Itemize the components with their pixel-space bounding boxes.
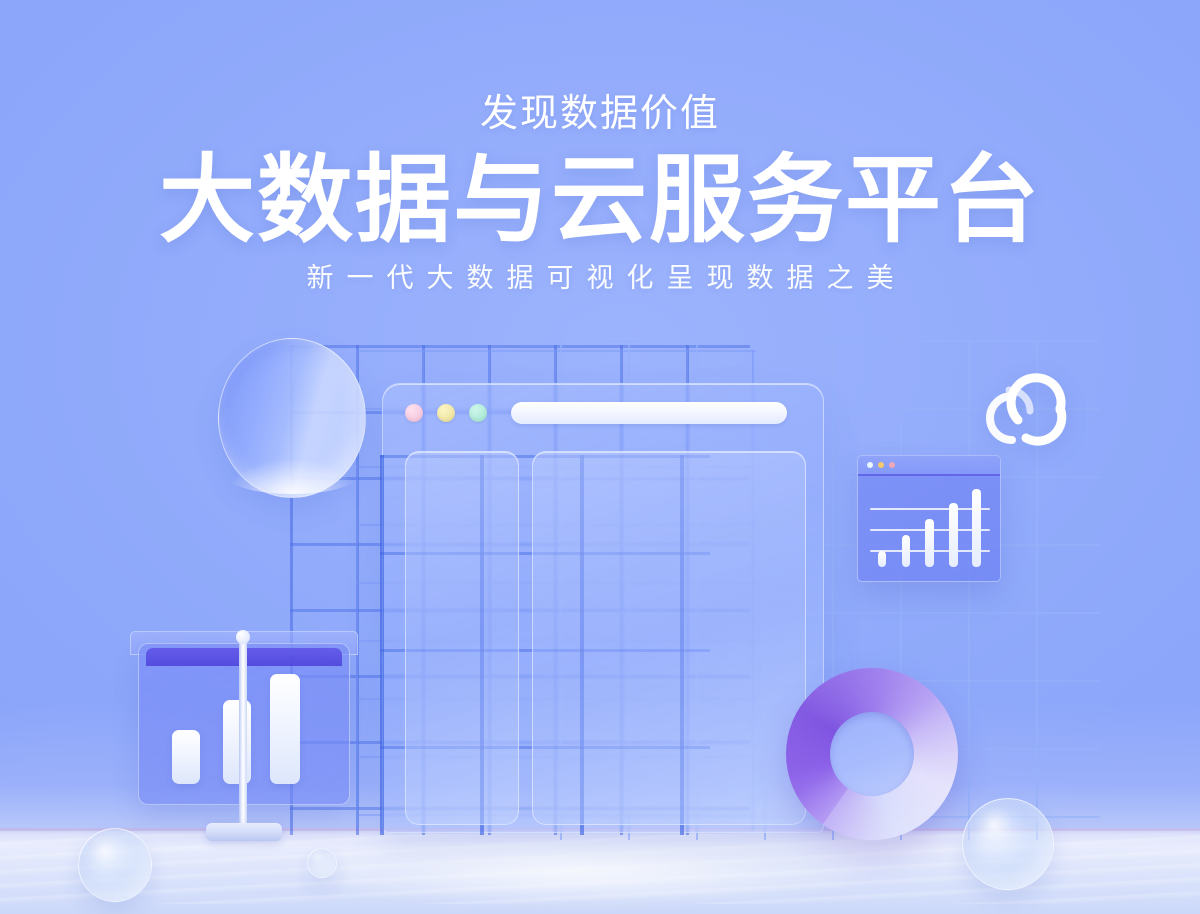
display-pole-cap (236, 630, 250, 644)
address-bar-input[interactable] (511, 402, 787, 424)
yellow-dot-icon[interactable] (437, 404, 455, 422)
left-panel-bar-1 (172, 730, 200, 784)
window-pane-right[interactable] (532, 451, 806, 825)
display-pole (239, 636, 247, 830)
mini-card-bar-1 (878, 551, 886, 567)
browser-titlebar (383, 384, 823, 442)
mini-dashboard-card[interactable] (857, 455, 1001, 582)
page-title: 大数据与云服务平台 (0, 136, 1200, 252)
glass-disc (218, 338, 366, 498)
pink-dot-icon[interactable] (889, 462, 895, 468)
glass-sphere-right (962, 798, 1054, 890)
floor-glow (270, 846, 890, 906)
mini-card-bar-4 (949, 503, 958, 567)
mini-card-titlebar (858, 456, 1000, 476)
pink-dot-icon[interactable] (405, 404, 423, 422)
hero-eyebrow: 发现数据价值 (0, 0, 1200, 136)
cloud-icon (978, 362, 1074, 448)
mini-card-bar-3 (925, 519, 934, 567)
orange-dot-icon[interactable] (878, 462, 884, 468)
hero-text-block: 发现数据价值 大数据与云服务平台 新一代大数据可视化呈现数据之美 (0, 0, 1200, 294)
hero-banner: 发现数据价值 大数据与云服务平台 新一代大数据可视化呈现数据之美 (0, 0, 1200, 914)
glass-sphere-small (307, 848, 337, 878)
glass-sphere-left (78, 828, 152, 902)
hero-subhead: 新一代大数据可视化呈现数据之美 (0, 252, 1200, 294)
left-panel-bar-3 (270, 674, 300, 784)
display-pole-base (206, 823, 282, 841)
white-dot-icon[interactable] (867, 462, 873, 468)
mini-card-bar-2 (902, 535, 910, 567)
mint-dot-icon[interactable] (469, 404, 487, 422)
window-pane-left[interactable] (405, 451, 519, 825)
mini-card-bar-5 (972, 489, 981, 567)
gradient-donut-ring (786, 668, 958, 840)
donut-hole (830, 712, 914, 796)
